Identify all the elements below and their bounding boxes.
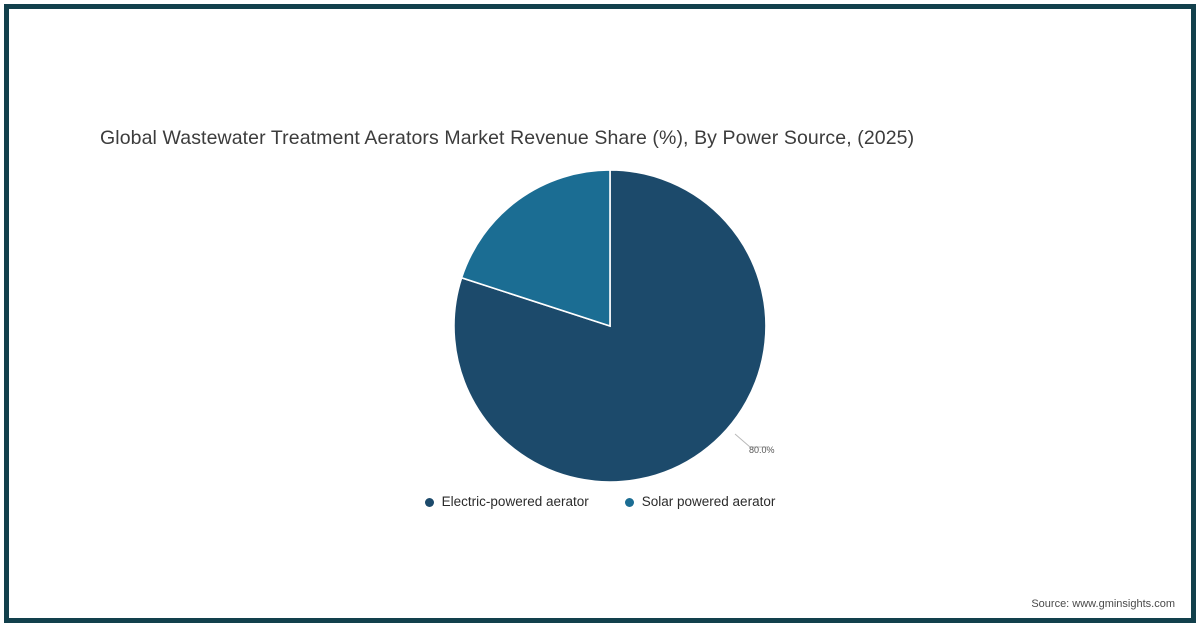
legend-color-swatch-icon <box>425 498 434 507</box>
page-title: Global Wastewater Treatment Aerators Mar… <box>100 125 1120 151</box>
legend-color-swatch-icon <box>625 498 634 507</box>
chart-canvas: Global Wastewater Treatment Aerators Mar… <box>9 9 1191 618</box>
source-attribution: Source: www.gminsights.com <box>1031 598 1175 610</box>
data-label-electric-powered-aerator: 80.0% <box>749 445 775 455</box>
legend-item-label: Solar powered aerator <box>642 493 776 511</box>
chart-frame: Global Wastewater Treatment Aerators Mar… <box>4 4 1196 623</box>
pie-chart-svg <box>445 162 785 492</box>
chart-legend: Electric-powered aerator Solar powered a… <box>9 493 1191 511</box>
legend-item-solar-powered-aerator[interactable]: Solar powered aerator <box>625 493 776 511</box>
legend-item-electric-powered-aerator[interactable]: Electric-powered aerator <box>425 493 589 511</box>
pie-chart <box>445 162 785 492</box>
legend-item-label: Electric-powered aerator <box>442 493 589 511</box>
